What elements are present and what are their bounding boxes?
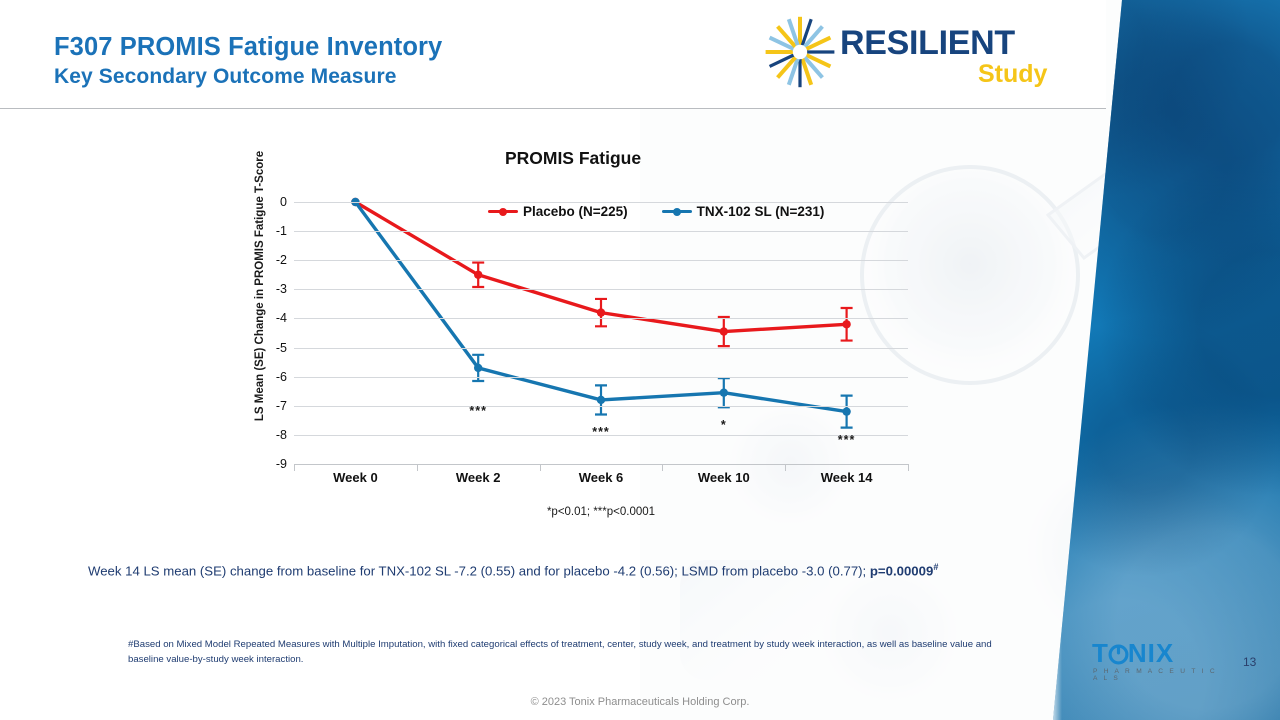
slide: F307 PROMIS Fatigue Inventory Key Second… [0,0,1280,720]
chart-title: PROMIS Fatigue [228,148,918,169]
summary-prefix: Week 14 LS mean (SE) change from baselin… [88,563,870,578]
x-tick-label: Week 10 [698,470,750,485]
y-tick-label: -2 [276,253,287,267]
data-point [720,388,728,396]
tonix-logo: TNIX P H A R M A C E U T I C A L S [1092,640,1220,686]
y-axis-label: LS Mean (SE) Change in PROMIS Fatigue T-… [254,146,266,426]
tonix-subtitle: P H A R M A C E U T I C A L S [1093,668,1220,682]
gridline [294,377,908,378]
resilient-logo: RESILIENT Study [760,10,1060,98]
y-tick-label: -3 [276,282,287,296]
data-point [842,407,850,415]
page-number: 13 [1243,655,1256,669]
legend-label-placebo: Placebo (N=225) [523,204,628,219]
y-tick-label: -5 [276,341,287,355]
y-tick-label: -7 [276,399,287,413]
y-tick-label: -1 [276,224,287,238]
gridline [294,231,908,232]
starburst-icon [760,12,840,92]
significance-marker: * [721,418,727,432]
footnote-text: #Based on Mixed Model Repeated Measures … [128,638,998,668]
significance-marker: *** [469,404,487,418]
power-o-icon [1108,644,1129,665]
gridline [294,260,908,261]
chart-legend: Placebo (N=225) TNX-102 SL (N=231) [488,204,824,219]
legend-swatch-tnx102sl [662,210,692,214]
gridline [294,406,908,407]
legend-label-tnx102sl: TNX-102 SL (N=231) [697,204,825,219]
significance-marker: *** [838,433,856,447]
y-tick-label: -8 [276,428,287,442]
promis-fatigue-chart: PROMIS Fatigue LS Mean (SE) Change in PR… [228,148,918,498]
resilient-study-label: Study [978,62,1047,87]
x-tick-label: Week 6 [579,470,624,485]
y-tick-label: 0 [280,195,287,209]
data-point [597,308,605,316]
copyright-text: © 2023 Tonix Pharmaceuticals Holding Cor… [0,696,1280,708]
gridline [294,348,908,349]
x-tick-label: Week 14 [821,470,873,485]
data-point [474,271,482,279]
significance-marker: *** [592,425,610,439]
legend-item-tnx102sl: TNX-102 SL (N=231) [662,204,825,219]
x-axis-tick [908,464,909,471]
x-tick-label: Week 0 [333,470,378,485]
data-point [720,327,728,335]
gridline [294,318,908,319]
page-title: F307 PROMIS Fatigue Inventory Key Second… [54,33,442,89]
y-tick-label: -6 [276,370,287,384]
y-tick-label: -4 [276,311,287,325]
gridline [294,289,908,290]
plot-area: 0-1-2-3-4-5-6-7-8-9********** [294,202,908,464]
x-axis-line [294,464,908,465]
pvalue-note: *p<0.01; ***p<0.0001 [294,506,908,518]
summary-text: Week 14 LS mean (SE) change from baselin… [88,562,1178,578]
gridline [294,202,908,203]
data-point [474,364,482,372]
title-line-1: F307 PROMIS Fatigue Inventory [54,33,442,61]
legend-swatch-placebo [488,210,518,214]
data-point [842,320,850,328]
x-axis-labels: Week 0Week 2Week 6Week 10Week 14 [294,470,908,492]
legend-item-placebo: Placebo (N=225) [488,204,628,219]
summary-pvalue: p=0.00009 [870,563,933,578]
x-tick-label: Week 2 [456,470,501,485]
resilient-wordmark: RESILIENT [840,26,1015,60]
data-point [597,396,605,404]
tonix-wordmark: TNIX [1092,640,1174,666]
header-divider [0,108,1106,109]
title-line-2: Key Secondary Outcome Measure [54,65,442,89]
summary-superscript: # [933,562,938,572]
y-tick-label: -9 [276,457,287,471]
